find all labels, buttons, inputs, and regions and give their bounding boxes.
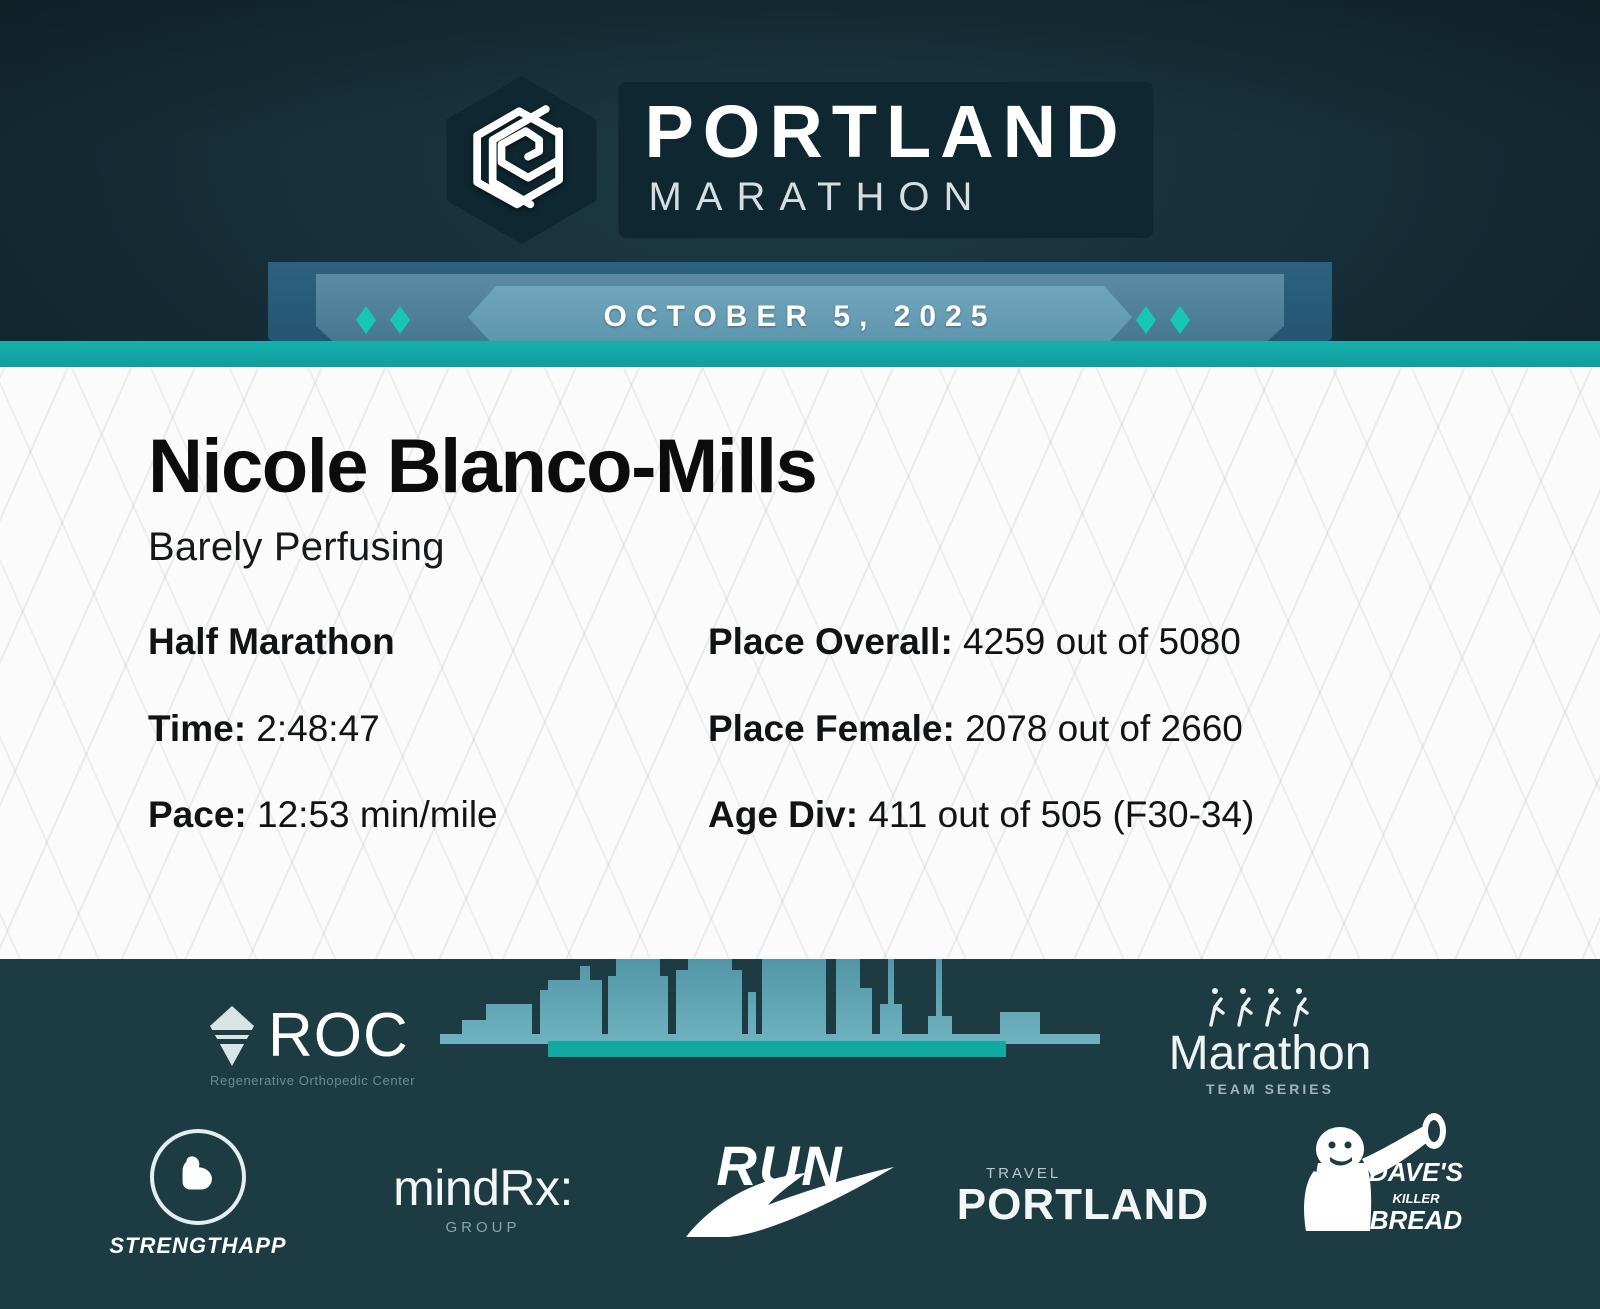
date-ribbon: OCTOBER 5, 2025 <box>0 262 1600 352</box>
sponsor-strengthapp-name: STRENGTHAPP <box>109 1233 286 1259</box>
sponsor-roc: ROC <box>210 1005 409 1067</box>
header-notch-shape <box>0 341 1600 413</box>
sponsor-mindrx: mindRx: GROUP <box>378 1163 588 1236</box>
runner-team: Barely Perfusing <box>148 525 1600 570</box>
sponsor-travel-name: PORTLAND <box>957 1182 1209 1228</box>
flexed-bicep-icon <box>150 1129 246 1225</box>
event-title-main: PORTLAND <box>644 96 1127 169</box>
sponsor-footer: ROC Regenerative Orthopedic Center <box>0 959 1600 1309</box>
results-body: Nicole Blanco-Mills Barely Perfusing Hal… <box>0 367 1600 959</box>
stat-value: 2:48:47 <box>256 708 379 749</box>
stats-column-left: Half Marathon Time: 2:48:47 Pace: 12:53 … <box>148 622 708 836</box>
stat-value: 4259 out of 5080 <box>963 621 1241 662</box>
sponsor-daves-killer-bread: DAVE'S KILLER BREAD <box>1288 1111 1488 1261</box>
sponsor-roc-tagline: Regenerative Orthopedic Center <box>210 1073 415 1088</box>
stat-label: Time: <box>148 708 246 749</box>
stat-place-overall: Place Overall: 4259 out of 5080 <box>708 622 1254 663</box>
stat-value: 2078 out of 2660 <box>965 708 1243 749</box>
roc-diamond-icon <box>210 1006 254 1066</box>
stat-pace: Pace: 12:53 min/mile <box>148 795 708 836</box>
stat-value: 411 out of 505 (F30-34) <box>868 794 1254 835</box>
diamond-icon <box>1136 306 1156 334</box>
event-date: OCTOBER 5, 2025 <box>604 300 997 334</box>
stat-event-name: Half Marathon <box>148 622 708 663</box>
event-title-sub: MARATHON <box>644 172 1127 222</box>
stat-value: 12:53 min/mile <box>257 794 498 835</box>
stat-label: Pace: <box>148 794 247 835</box>
diamond-icon <box>390 306 410 334</box>
sponsor-strengthapp: STRENGTHAPP <box>118 1129 278 1259</box>
sponsor-travel-portland: TRAVEL PORTLAND <box>968 1165 1198 1228</box>
stat-label: Half Marathon <box>148 621 395 662</box>
sponsor-mindrx-sub: GROUP <box>445 1219 520 1236</box>
sponsor-row-top: ROC Regenerative Orthopedic Center <box>0 981 1600 1109</box>
svg-text:BREAD: BREAD <box>1370 1205 1463 1235</box>
race-result-certificate: PORTLAND MARATHON OCTOBER 5, 2025 <box>0 0 1600 1309</box>
ribbon-core-shape: OCTOBER 5, 2025 <box>468 286 1132 348</box>
header-banner: PORTLAND MARATHON OCTOBER 5, 2025 <box>0 0 1600 352</box>
sponsor-nike-run: RUN <box>672 1133 902 1243</box>
event-logo-lockup: PORTLAND MARATHON <box>446 76 1153 244</box>
svg-text:KILLER: KILLER <box>1393 1191 1441 1206</box>
stat-label: Place Overall: <box>708 621 953 662</box>
stat-time: Time: 2:48:47 <box>148 709 708 750</box>
sponsor-mindrx-name: mindRx: <box>393 1163 573 1213</box>
stat-label: Age Div: <box>708 794 858 835</box>
stat-place-female: Place Female: 2078 out of 2660 <box>708 709 1254 750</box>
nike-swoosh-icon: RUN <box>672 1133 902 1243</box>
results-stats: Half Marathon Time: 2:48:47 Pace: 12:53 … <box>148 622 1600 836</box>
runner-name: Nicole Blanco-Mills <box>148 429 1600 505</box>
svg-text:DAVE'S: DAVE'S <box>1369 1157 1463 1187</box>
event-wordmark: PORTLAND MARATHON <box>618 82 1153 239</box>
diamond-group-left <box>356 306 410 334</box>
dkb-mascot-icon: DAVE'S KILLER BREAD <box>1288 1111 1488 1261</box>
diamond-group-right <box>1136 306 1190 334</box>
sponsor-row-bottom: STRENGTHAPP mindRx: GROUP RUN TRAVEL POR… <box>0 1119 1600 1289</box>
stat-label: Place Female: <box>708 708 955 749</box>
sponsor-marathon-team-series: Marathon TEAM SERIES <box>1155 985 1385 1097</box>
sponsor-roc-name: ROC <box>268 1005 409 1067</box>
stats-column-right: Place Overall: 4259 out of 5080 Place Fe… <box>708 622 1254 836</box>
diamond-icon <box>356 306 376 334</box>
runners-icon <box>1155 985 1385 1027</box>
stat-age-div: Age Div: 411 out of 505 (F30-34) <box>708 795 1254 836</box>
sponsor-marathon-sub: TEAM SERIES <box>1155 1081 1385 1097</box>
diamond-icon <box>1170 306 1190 334</box>
sponsor-marathon-name: Marathon <box>1155 1029 1385 1079</box>
hexagon-spiral-icon <box>446 76 596 244</box>
